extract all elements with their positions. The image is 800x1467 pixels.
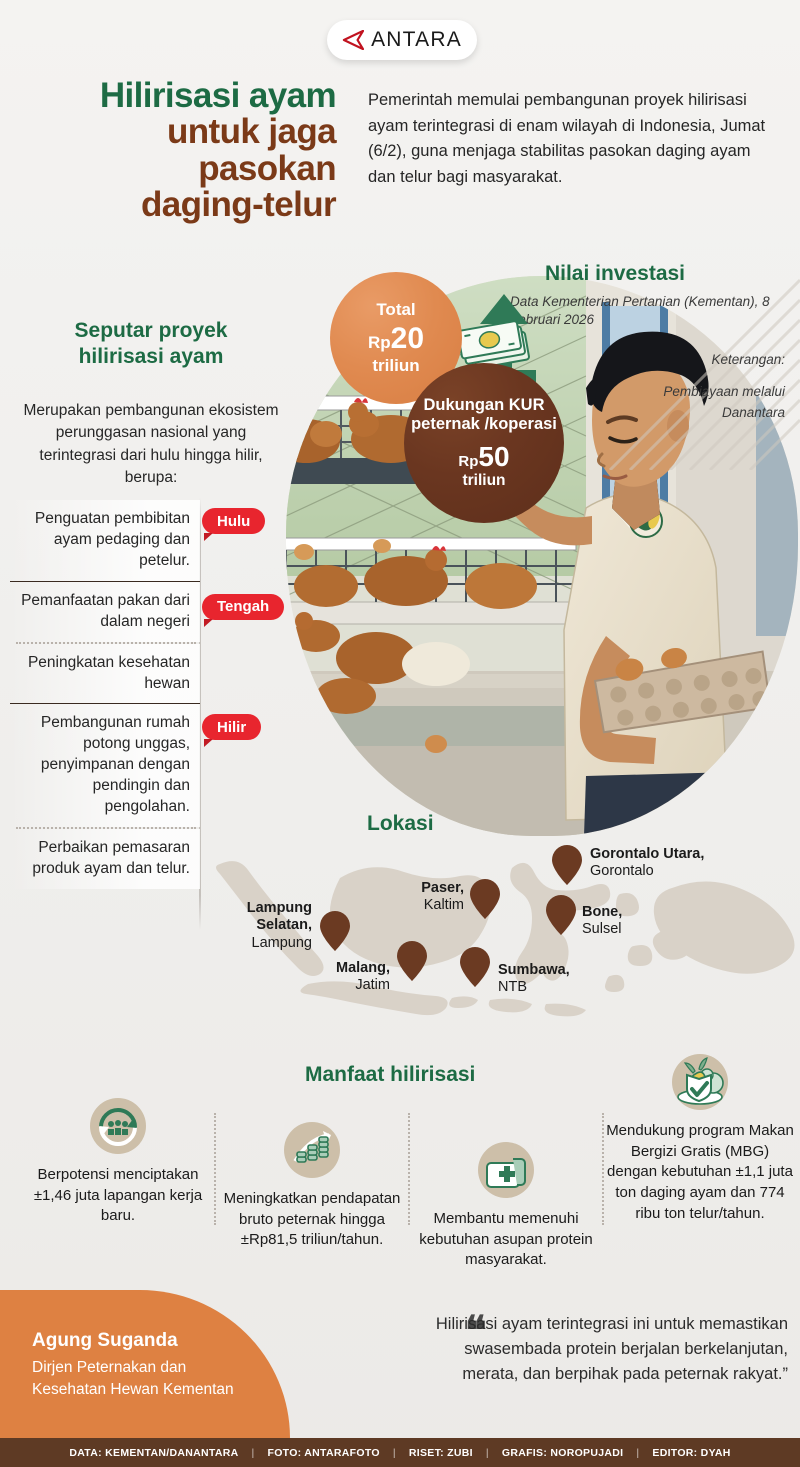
health-cross-icon	[477, 1141, 535, 1199]
investment-title: Nilai investasi	[450, 262, 780, 286]
loc-prov-2: Gorontalo	[590, 863, 654, 879]
loc-name-2: Gorontalo Utara,	[590, 846, 704, 862]
speaker-role: Dirjen Peternakan dan Kesehatan Hewan Ke…	[32, 1357, 247, 1401]
stage-text-3: Pembangunan rumah potong unggas, penyimp…	[16, 713, 190, 818]
total-amount: Rp20	[368, 324, 424, 354]
credit-separator: |	[486, 1447, 489, 1459]
stage-card: Peningkatan kesehatan hewan	[10, 644, 200, 704]
benefit-divider	[214, 1113, 216, 1225]
speaker-name: Agung Suganda	[32, 1330, 262, 1352]
speaker-quote-text: Hilirisasi ayam terintegrasi ini untuk m…	[432, 1312, 788, 1387]
project-stage-list: Penguatan pembibitan ayam pedaging dan p…	[10, 500, 295, 889]
stage-text-1: Pemanfaatan pakan dari dalam negeri	[16, 591, 190, 633]
map-pin-gorontalo-utara[interactable]	[550, 844, 584, 886]
loc-name-3: Bone,	[582, 904, 622, 920]
map-label-sumbawa: Sumbawa, NTB	[498, 962, 618, 997]
total-label: Total	[376, 300, 415, 320]
stage-text-2: Peningkatan kesehatan hewan	[16, 653, 190, 695]
loc-name-4: Malang,	[336, 960, 390, 976]
loc-name-5: Sumbawa,	[498, 962, 570, 978]
project-title-line-1: Seputar proyek	[75, 319, 228, 342]
kur-currency: Rp	[458, 453, 478, 470]
stage-row-hilir: Pembangunan rumah potong unggas, penyimp…	[10, 704, 295, 827]
antara-logo-text: ANTARA	[371, 28, 462, 52]
stage-tag-hilir: Hilir	[202, 714, 261, 740]
map-pin-sumbawa[interactable]	[458, 946, 492, 988]
title-line-1: Hilirisasi ayam	[28, 78, 336, 114]
benefit-item-protein: Membantu memenuhi kebutuhan asupan prote…	[412, 1141, 600, 1271]
benefit-text-1: Meningkatkan pendapatan bruto peternak h…	[218, 1189, 406, 1251]
stage-card: Pembangunan rumah potong unggas, penyimp…	[10, 704, 200, 827]
title-line-2: untuk jaga	[28, 114, 336, 150]
benefits-grid: Berpotensi menciptakan ±1,46 juta lapang…	[8, 1085, 792, 1285]
benefit-text-3: Mendukung program Makan Bergizi Gratis (…	[606, 1121, 794, 1224]
loc-name-1: Paser,	[421, 880, 464, 896]
indonesia-map: Lampung Selatan, Lampung Paser, Kaltim G…	[190, 836, 800, 1051]
credit-separator: |	[636, 1447, 639, 1459]
keterangan-block: Keterangan: Pembiayaan melalui Danantara	[600, 350, 785, 423]
map-pin-malang[interactable]	[395, 940, 429, 982]
title-line-4: daging-telur	[28, 187, 336, 223]
benefit-item-income: Meningkatkan pendapatan bruto peternak h…	[218, 1121, 406, 1251]
benefit-item-jobs: Berpotensi menciptakan ±1,46 juta lapang…	[24, 1097, 212, 1227]
title-line-3: pasokan	[28, 151, 336, 187]
stage-text-0: Penguatan pembibitan ayam pedaging dan p…	[16, 509, 190, 572]
total-currency: Rp	[368, 333, 391, 352]
stage-card: Pemanfaatan pakan dari dalam negeri	[10, 582, 200, 642]
credit-editor: EDITOR: DYAH	[652, 1447, 730, 1459]
stage-tag-tengah: Tengah	[202, 594, 284, 620]
loc-prov-5: NTB	[498, 979, 527, 995]
infographic-page: ANTARA Hilirisasi ayam untuk jaga pasoka…	[0, 0, 800, 1467]
jobs-cycle-icon	[89, 1097, 147, 1155]
map-label-gorontalo-utara: Gorontalo Utara, Gorontalo	[590, 846, 740, 881]
project-title-line-2: hilirisasi ayam	[79, 345, 224, 368]
benefits-section-title: Manfaat hilirisasi	[305, 1063, 475, 1087]
loc-prov-0: Lampung	[252, 935, 312, 951]
growth-coins-icon	[283, 1121, 341, 1179]
map-label-malang: Malang, Jatim	[286, 960, 390, 995]
keterangan-label: Keterangan:	[600, 350, 785, 370]
benefit-divider	[408, 1113, 410, 1225]
stage-text-4: Perbaikan pemasaran produk ayam dan telu…	[16, 838, 190, 880]
stage-card: Perbaikan pemasaran produk ayam dan telu…	[10, 829, 200, 889]
benefit-item-mbg: Mendukung program Makan Bergizi Gratis (…	[606, 1053, 794, 1224]
map-pin-lampung-selatan[interactable]	[318, 910, 352, 952]
map-section-title: Lokasi	[367, 812, 434, 836]
stage-tag-hulu: Hulu	[202, 508, 265, 534]
benefit-divider	[602, 1113, 604, 1225]
kur-value: 50	[478, 441, 509, 472]
nutrition-icon	[671, 1053, 729, 1111]
map-label-lampung-selatan: Lampung Selatan, Lampung	[190, 900, 312, 952]
stage-row-kesehatan: Peningkatan kesehatan hewan	[10, 644, 295, 704]
loc-prov-4: Jatim	[355, 977, 390, 993]
benefit-text-2: Membantu memenuhi kebutuhan asupan prote…	[412, 1209, 600, 1271]
credit-separator: |	[251, 1447, 254, 1459]
stage-card: Penguatan pembibitan ayam pedaging dan p…	[10, 500, 200, 581]
map-pin-bone[interactable]	[544, 894, 578, 936]
total-unit: triliun	[372, 356, 419, 376]
page-title: Hilirisasi ayam untuk jaga pasokan dagin…	[28, 78, 336, 224]
kur-unit: triliun	[462, 472, 505, 490]
loc-name-0: Lampung Selatan,	[247, 900, 312, 933]
map-pin-paser[interactable]	[468, 878, 502, 920]
map-label-bone: Bone, Sulsel	[582, 904, 682, 939]
total-value: 20	[391, 322, 424, 355]
map-label-paser: Paser, Kaltim	[380, 880, 464, 915]
antara-triangle-logo-icon	[342, 30, 364, 50]
header-lead-paragraph: Pemerintah memulai pembangunan proyek hi…	[368, 88, 768, 190]
loc-prov-1: Kaltim	[424, 897, 464, 913]
credit-data: DATA: KEMENTAN/DANANTARA	[69, 1447, 238, 1459]
keterangan-text: Pembiayaan melalui Danantara	[600, 382, 785, 423]
stage-row-tengah: Pemanfaatan pakan dari dalam negeri Teng…	[10, 582, 295, 642]
antara-logo: ANTARA	[327, 20, 477, 60]
loc-prov-3: Sulsel	[582, 921, 622, 937]
project-intro: Merupakan pembangunan ekosistem perungga…	[20, 400, 282, 490]
credits-bar: DATA: KEMENTAN/DANANTARA | FOTO: ANTARAF…	[0, 1438, 800, 1467]
investment-kur-bubble: Dukungan KUR peternak /koperasi Rp50 tri…	[404, 363, 564, 523]
kur-amount: Rp50	[458, 443, 509, 471]
investment-source: Data Kementerian Pertanian (Kementan), 8…	[510, 293, 790, 329]
stage-row-hulu: Penguatan pembibitan ayam pedaging dan p…	[10, 500, 295, 581]
credit-grafis: GRAFIS: NOROPUJADI	[502, 1447, 624, 1459]
credit-riset: RISET: ZUBI	[409, 1447, 473, 1459]
project-section-title: Seputar proyek hilirisasi ayam	[26, 318, 276, 371]
kur-label: Dukungan KUR peternak /koperasi	[404, 396, 564, 434]
credit-separator: |	[393, 1447, 396, 1459]
benefit-text-0: Berpotensi menciptakan ±1,46 juta lapang…	[24, 1165, 212, 1227]
credit-foto: FOTO: ANTARAFOTO	[268, 1447, 380, 1459]
